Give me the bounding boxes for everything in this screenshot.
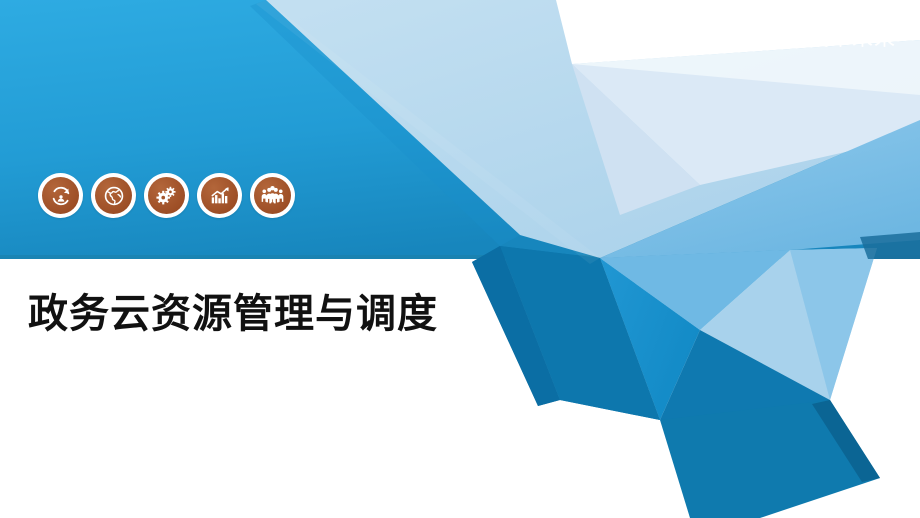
- refresh-cycle-icon: [42, 177, 79, 214]
- gears-icon: [148, 177, 185, 214]
- icon-badge-refresh-cycle[interactable]: [38, 173, 83, 218]
- icon-badge-gears[interactable]: [144, 173, 189, 218]
- bar-chart-growth-icon: [201, 177, 238, 214]
- icon-badge-bar-chart-growth[interactable]: [197, 173, 242, 218]
- globe-icon: [95, 177, 132, 214]
- background-artwork: [0, 0, 920, 518]
- icon-strip: [38, 173, 295, 218]
- slide-canvas: 数智创新 变革未来: [0, 0, 920, 518]
- people-group-icon: [254, 177, 291, 214]
- page-title: 政务云资源管理与调度: [28, 292, 438, 337]
- title-block: 政务云资源管理与调度: [28, 292, 438, 337]
- icon-badge-globe[interactable]: [91, 173, 136, 218]
- icon-badge-people-group[interactable]: [250, 173, 295, 218]
- tagline-text: 数智创新 变革未来: [713, 26, 896, 52]
